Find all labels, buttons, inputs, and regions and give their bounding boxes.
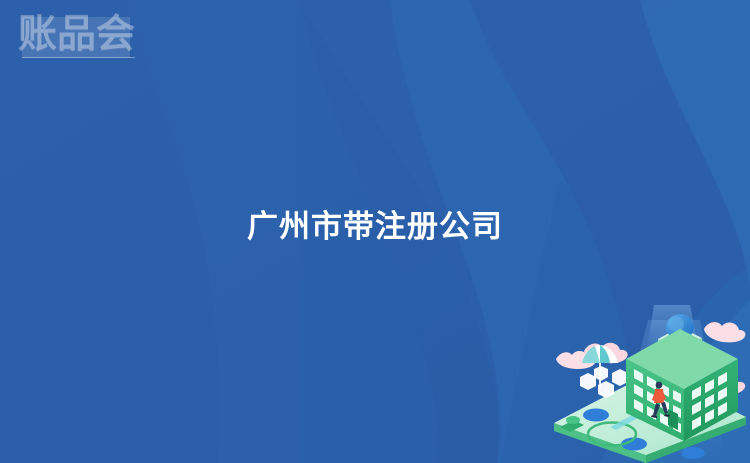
patio-chair (612, 369, 628, 386)
patio-chair (580, 373, 596, 390)
watermark-underline (22, 57, 135, 58)
pond (583, 409, 609, 422)
patio-chair (594, 366, 608, 381)
site-watermark-logo: 账品会 (14, 10, 149, 66)
page-title: 广州市带注册公司 (0, 206, 750, 248)
pond (681, 447, 705, 459)
cloud (704, 322, 745, 342)
cover-banner: 账品会 广州市带注册公司 (0, 0, 750, 463)
watermark-text: 账品会 (18, 12, 135, 58)
isometric-office-illustration (550, 303, 750, 463)
